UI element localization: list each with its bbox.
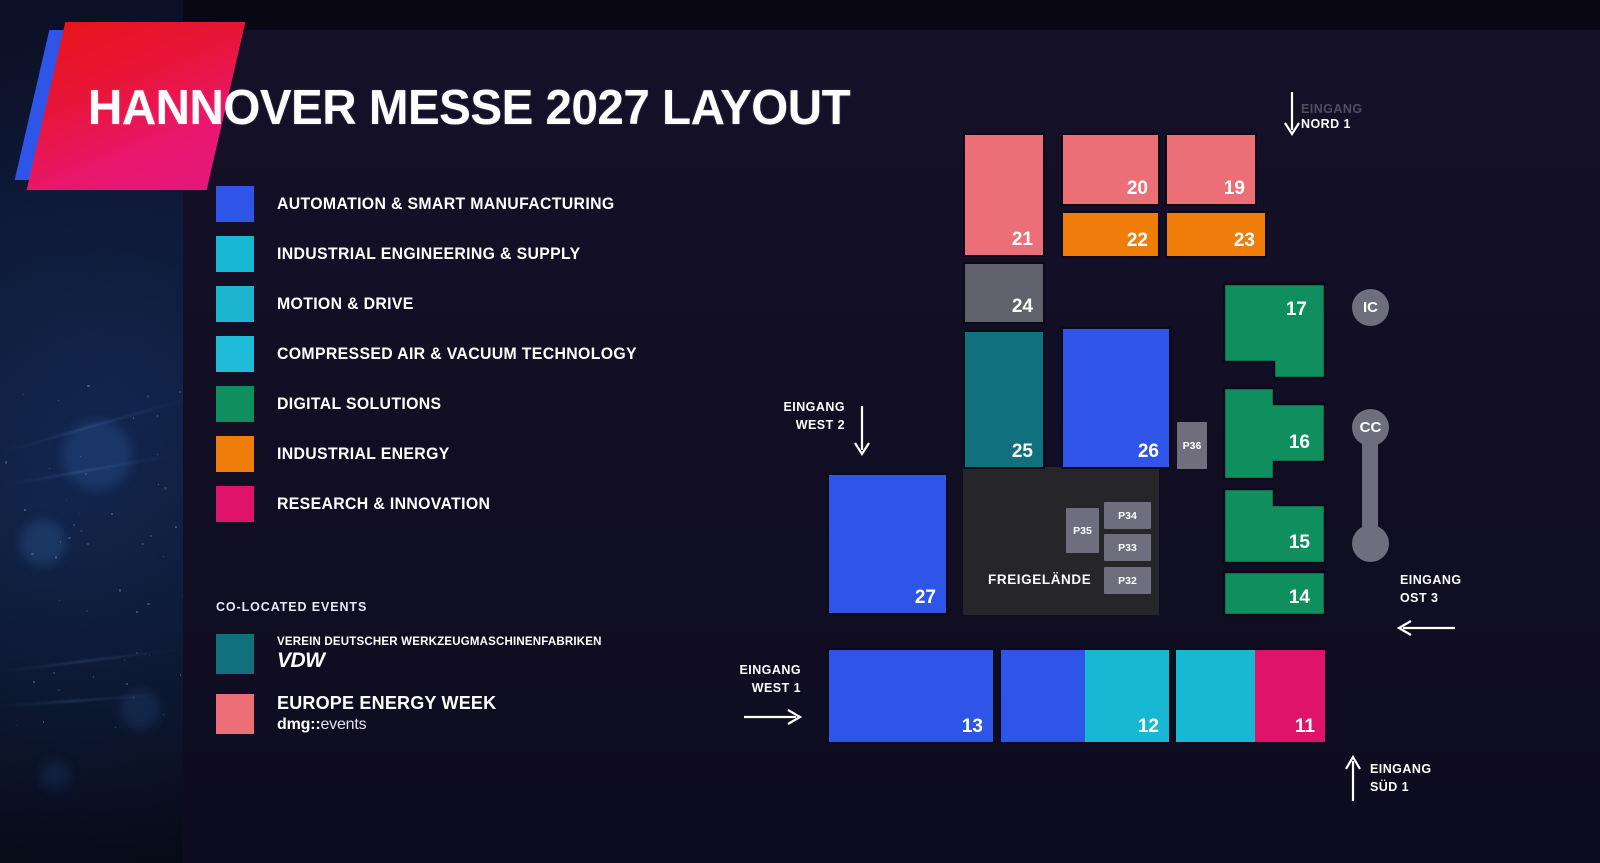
hall-20-label: 20 (1127, 179, 1148, 198)
cc-connector-foot (1352, 525, 1389, 562)
arrow-left-ost-3 (1395, 617, 1457, 639)
hall-19-label: 19 (1224, 179, 1245, 198)
arrow-down-nord-1 (1281, 90, 1303, 140)
parking-p35[interactable]: P35 (1066, 508, 1099, 553)
parking-p33[interactable]: P33 (1104, 534, 1151, 561)
hall-12-label: 12 (1138, 717, 1159, 736)
arrow-right-west-1 (742, 706, 804, 728)
entrance-ost-3-line1: EINGANG (1400, 571, 1462, 589)
cc-connector-bar (1362, 432, 1378, 540)
hall-13-label: 13 (962, 717, 983, 736)
entrance-west-2: EINGANG WEST 2 (770, 398, 845, 434)
entrance-west-1-line1: EINGANG (726, 661, 801, 679)
parking-p36[interactable]: P36 (1177, 422, 1207, 469)
hall-27-label: 27 (915, 588, 936, 607)
hall-24-label: 24 (1012, 297, 1033, 316)
outdoor-area-label: FREIGELÄNDE (988, 572, 1091, 587)
hall-16-number: 16 (1289, 432, 1310, 453)
entrance-sued-1-line1: EINGANG (1370, 760, 1432, 778)
hall-23-label: 23 (1234, 231, 1255, 250)
hall-20[interactable]: 20 (1061, 133, 1160, 206)
hall-26-label: 26 (1138, 442, 1159, 461)
hall-11[interactable]: 11 (1174, 648, 1327, 744)
hall-17-number: 17 (1286, 299, 1307, 320)
parking-label: P32 (1118, 575, 1137, 587)
hall-24[interactable]: 24 (963, 262, 1045, 324)
entrance-nord-1-line1: EINGANG (1301, 100, 1363, 118)
parking-label: P33 (1118, 542, 1137, 554)
hall-25-label: 25 (1012, 442, 1033, 461)
hall-map: 17 16 15 14 FREIGELÄNDE21201922232425262… (0, 0, 1417, 863)
hall-13[interactable]: 13 (827, 648, 995, 744)
hall-14-number: 14 (1289, 587, 1311, 608)
entrance-ost-3-line2: OST 3 (1400, 589, 1462, 607)
hall-11-label: 11 (1295, 717, 1315, 736)
parking-label: P35 (1073, 525, 1092, 537)
parking-label: P36 (1183, 440, 1202, 452)
hall-16-shape[interactable] (1224, 388, 1325, 479)
entrance-ost-3: EINGANG OST 3 (1400, 571, 1462, 607)
entrance-west-2-line2: WEST 2 (770, 416, 845, 434)
hall-26[interactable]: 26 (1061, 327, 1171, 469)
parking-p32[interactable]: P32 (1104, 567, 1151, 594)
hall-15-number: 15 (1289, 532, 1311, 553)
entrance-west-2-line1: EINGANG (770, 398, 845, 416)
hall-23[interactable]: 23 (1165, 211, 1267, 258)
hall-21-label: 21 (1012, 230, 1033, 249)
parking-p34[interactable]: P34 (1104, 502, 1151, 529)
layout-screenshot: HANNOVER MESSE 2027 LAYOUT AUTOMATION & … (0, 0, 1600, 863)
entrance-sued-1: EINGANG SÜD 1 (1370, 760, 1432, 796)
hall-22[interactable]: 22 (1061, 211, 1160, 258)
hall-27[interactable]: 27 (827, 473, 948, 615)
hall-14-shape[interactable] (1224, 572, 1325, 615)
hall-21[interactable]: 21 (963, 133, 1045, 257)
entrance-west-1-line2: WEST 1 (726, 679, 801, 697)
hall-25[interactable]: 25 (963, 330, 1045, 469)
hall-19[interactable]: 19 (1165, 133, 1257, 206)
parking-label: P34 (1118, 510, 1137, 522)
hall-22-label: 22 (1127, 231, 1148, 250)
hall-15-shape[interactable] (1224, 489, 1325, 563)
arrow-up-sued-1 (1342, 751, 1364, 803)
arrow-down-west-2 (851, 404, 873, 460)
entrance-nord-1: EINGANG NORD 1 (1301, 100, 1363, 133)
marker-ic[interactable]: IC (1352, 289, 1389, 326)
marker-label: IC (1363, 299, 1378, 316)
hall-12[interactable]: 12 (999, 648, 1171, 744)
hall-17-shape[interactable] (1224, 284, 1325, 378)
entrance-west-1: EINGANG WEST 1 (726, 661, 801, 697)
entrance-sued-1-line2: SÜD 1 (1370, 778, 1432, 796)
